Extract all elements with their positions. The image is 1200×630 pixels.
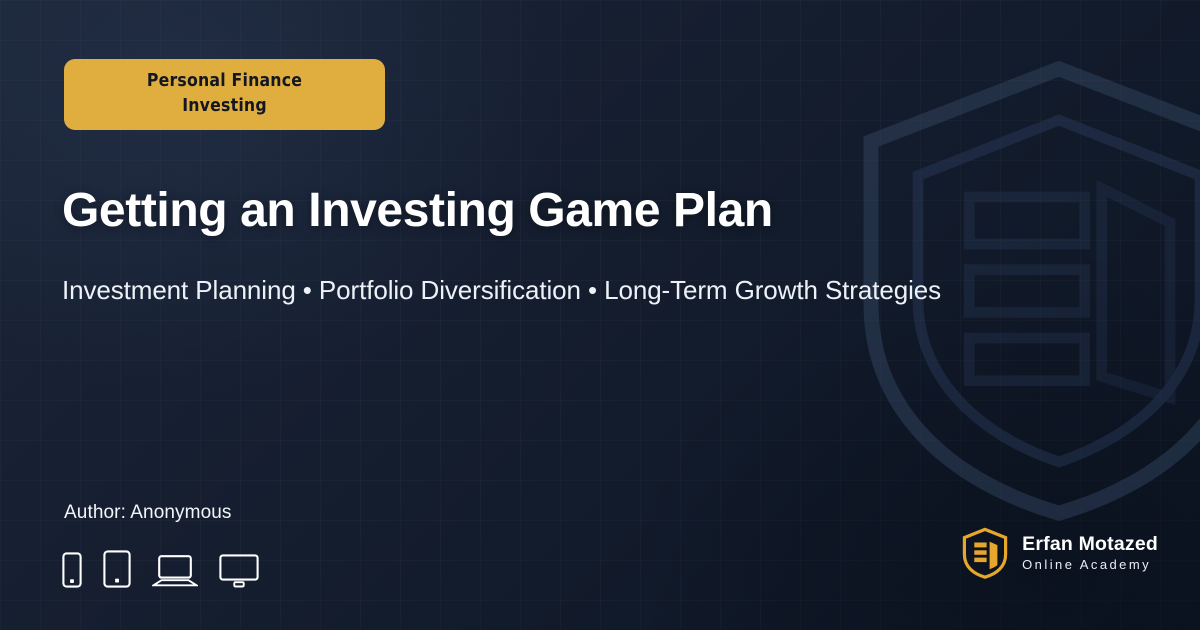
category-badge-line-2: Investing <box>182 95 267 119</box>
social-share-card: Personal Finance Investing Getting an In… <box>0 0 1200 630</box>
brand-name: Erfan Motazed <box>1022 534 1158 555</box>
author-label: Author: Anonymous <box>64 502 232 524</box>
page-title: Getting an Investing Game Plan <box>62 184 1102 238</box>
laptop-icon <box>152 554 198 588</box>
brand-tagline: Online Academy <box>1022 558 1158 572</box>
category-badge-line-1: Personal Finance <box>147 70 302 94</box>
tablet-icon <box>103 550 131 588</box>
shield-monogram-icon <box>961 527 1009 579</box>
device-compatibility-row <box>62 546 259 588</box>
page-subtitle: Investment Planning • Portfolio Diversif… <box>62 274 1152 307</box>
desktop-monitor-icon <box>219 554 259 588</box>
brand-lockup: Erfan Motazed Online Academy <box>961 527 1158 579</box>
category-badge: Personal Finance Investing <box>64 59 385 130</box>
mobile-phone-icon <box>62 552 82 588</box>
brand-text-block: Erfan Motazed Online Academy <box>1022 534 1158 572</box>
